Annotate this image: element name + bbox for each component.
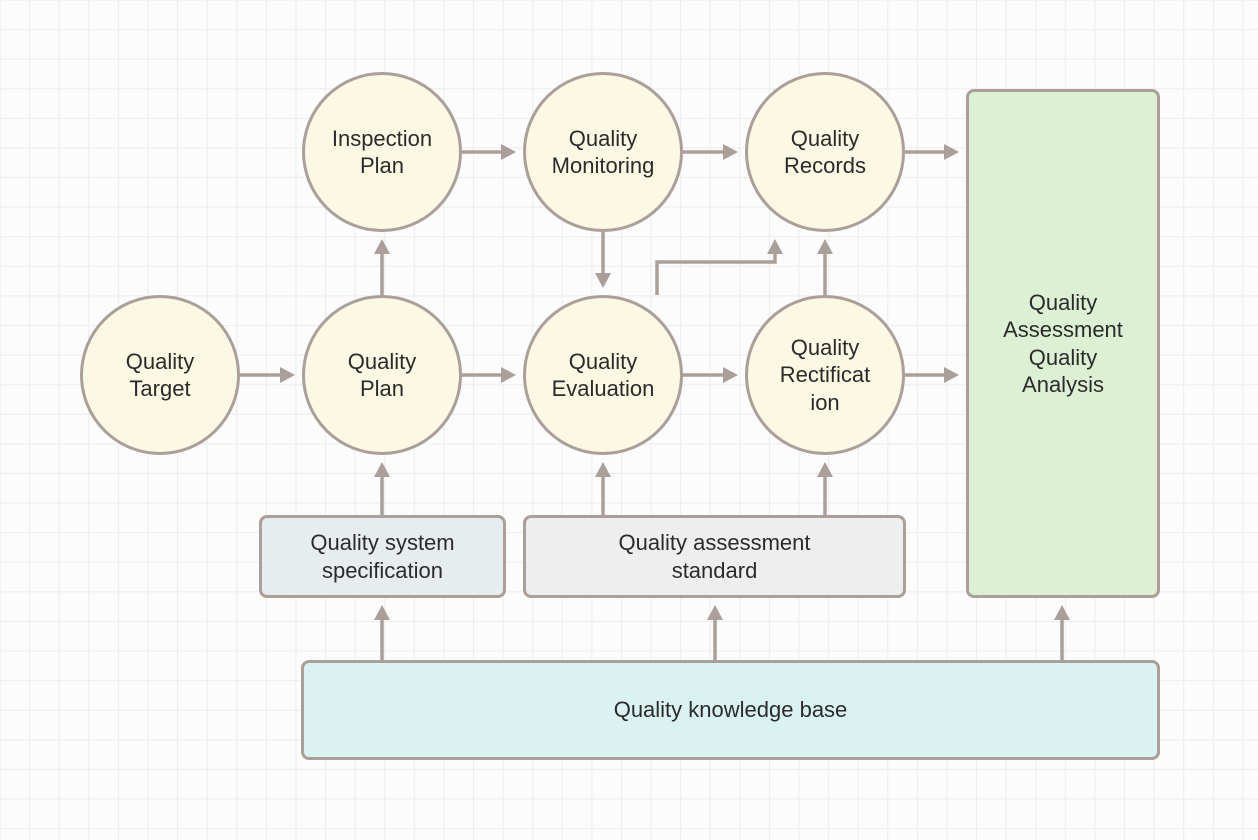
edge-inspection-to-monitoring: [462, 144, 516, 160]
arrowhead: [501, 144, 516, 160]
node-label-quality-rectification: Quality Rectificat ion: [774, 334, 876, 417]
arrowhead: [707, 605, 723, 620]
arrowhead: [723, 367, 738, 383]
node-quality-records[interactable]: Quality Records: [745, 72, 905, 232]
arrowhead: [944, 367, 959, 383]
edge-evaluation-to-records: [657, 239, 783, 295]
node-label-quality-assessment-standard: Quality assessment standard: [613, 529, 817, 584]
node-label-quality-target: Quality Target: [120, 348, 200, 403]
edge-monitoring-to-evaluation: [595, 232, 611, 288]
node-label-quality-system-specification: Quality system specification: [304, 529, 460, 584]
arrowhead: [723, 144, 738, 160]
node-quality-monitoring[interactable]: Quality Monitoring: [523, 72, 683, 232]
arrowhead: [374, 462, 390, 477]
node-quality-target[interactable]: Quality Target: [80, 295, 240, 455]
edge-knowledge-to-specification: [374, 605, 390, 660]
node-quality-assessment-analysis[interactable]: Quality Assessment Quality Analysis: [966, 89, 1160, 598]
node-quality-evaluation[interactable]: Quality Evaluation: [523, 295, 683, 455]
node-label-quality-plan: Quality Plan: [342, 348, 422, 403]
arrowhead: [595, 462, 611, 477]
edge-monitoring-to-records: [683, 144, 738, 160]
node-quality-assessment-standard[interactable]: Quality assessment standard: [523, 515, 906, 598]
arrowhead: [374, 605, 390, 620]
node-quality-plan[interactable]: Quality Plan: [302, 295, 462, 455]
edge-rectification-to-assessment: [905, 367, 959, 383]
node-quality-knowledge-base[interactable]: Quality knowledge base: [301, 660, 1160, 760]
arrowhead: [767, 239, 783, 254]
arrowhead: [501, 367, 516, 383]
edge-rectification-to-records: [817, 239, 833, 295]
arrowhead: [1054, 605, 1070, 620]
arrowhead: [817, 239, 833, 254]
edge-target-to-plan: [240, 367, 295, 383]
arrowhead: [280, 367, 295, 383]
node-label-quality-records: Quality Records: [778, 125, 872, 180]
edge-evaluation-to-rectification: [683, 367, 738, 383]
edge-plan-to-evaluation: [462, 367, 516, 383]
node-label-quality-monitoring: Quality Monitoring: [546, 125, 661, 180]
node-quality-rectification[interactable]: Quality Rectificat ion: [745, 295, 905, 455]
diagram-canvas: Quality TargetQuality PlanInspection Pla…: [0, 0, 1258, 840]
edge-knowledge-to-assessment: [1054, 605, 1070, 660]
node-label-quality-assessment-analysis: Quality Assessment Quality Analysis: [997, 289, 1129, 399]
edge-records-to-assessment: [905, 144, 959, 160]
edge-standard-to-evaluation: [595, 462, 611, 515]
arrowhead: [944, 144, 959, 160]
node-label-quality-evaluation: Quality Evaluation: [546, 348, 661, 403]
node-label-quality-knowledge-base: Quality knowledge base: [608, 696, 854, 724]
arrowhead: [374, 239, 390, 254]
arrowhead: [595, 273, 611, 288]
arrowhead: [817, 462, 833, 477]
node-inspection-plan[interactable]: Inspection Plan: [302, 72, 462, 232]
node-label-inspection-plan: Inspection Plan: [326, 125, 438, 180]
edge-knowledge-to-standard: [707, 605, 723, 660]
edge-specification-to-plan: [374, 462, 390, 515]
node-quality-system-specification[interactable]: Quality system specification: [259, 515, 506, 598]
edge-standard-to-rectification: [817, 462, 833, 515]
edge-plan-to-inspection: [374, 239, 390, 295]
